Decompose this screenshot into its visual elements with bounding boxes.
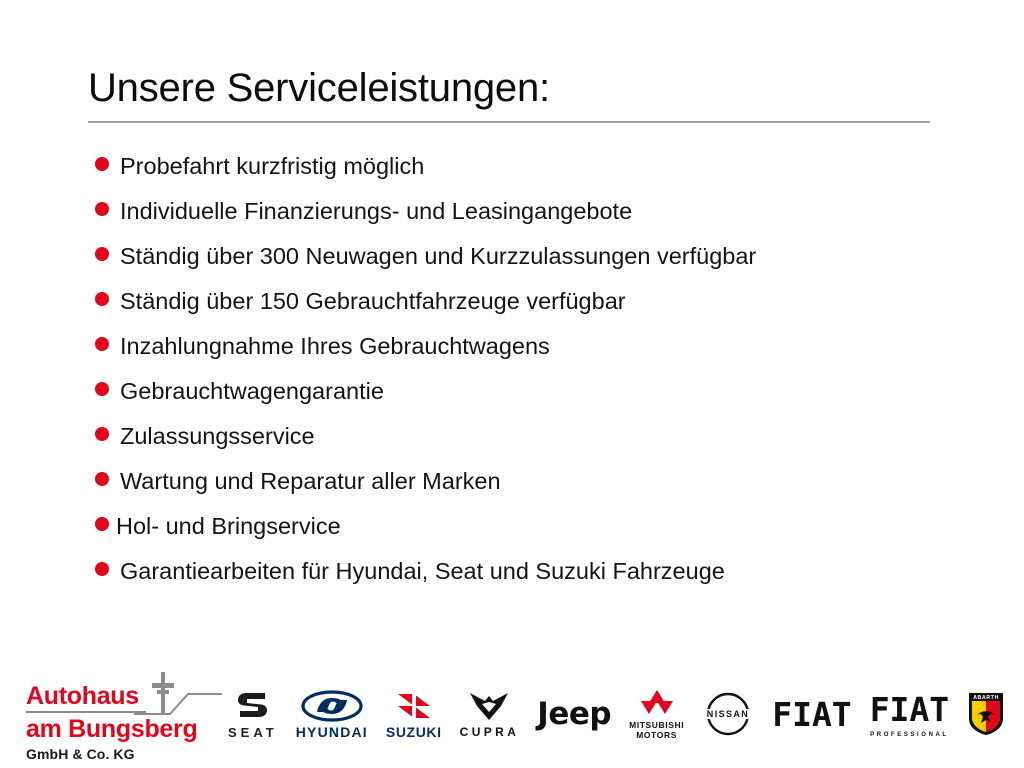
dealer-name-line1: Autohaus [26, 684, 139, 709]
service-label: Ständig über 300 Neuwagen und Kurzzulass… [120, 242, 756, 270]
brand-wordmark: HYUNDAI [296, 725, 368, 739]
bullet-dot-icon [95, 382, 109, 396]
title-block: Unsere Serviceleistungen: [88, 66, 930, 123]
brand-logo-strip: SEAT HYUNDAI SUZUKI [228, 664, 1020, 764]
brand-abarth: ABARTH [967, 684, 1005, 744]
brand-wordmark: SEAT [228, 726, 278, 739]
list-item: Zulassungsservice [95, 422, 975, 467]
brand-wordmark: SUZUKI [386, 725, 442, 739]
bullet-dot-icon [95, 157, 109, 171]
brand-fiat-professional: FIAT PROFESSIONAL [870, 684, 949, 744]
bullet-dot-icon [95, 472, 109, 486]
brand-seat: SEAT [228, 684, 278, 744]
list-item: Probefahrt kurzfristig möglich [95, 152, 975, 197]
service-label: Inzahlungnahme Ihres Gebrauchtwagens [120, 332, 550, 360]
service-label: Probefahrt kurzfristig möglich [120, 152, 424, 180]
suzuki-logo-icon [394, 690, 434, 722]
footer: Autohaus am Bungsberg GmbH & Co. KG SEAT [0, 660, 1024, 768]
list-item: Gebrauchtwagengarantie [95, 377, 975, 422]
brand-cupra: CUPRA [460, 684, 520, 744]
nissan-logo-icon: NISSAN [702, 690, 754, 738]
service-label: Ständig über 150 Gebrauchtfahrzeuge verf… [120, 287, 626, 315]
brand-wordmark: MITSUBISHIMOTORS [629, 721, 684, 741]
slide-canvas: Unsere Serviceleistungen: Probefahrt kur… [0, 0, 1024, 768]
list-item: Hol- und Bringservice [95, 512, 975, 557]
list-item: Inzahlungnahme Ihres Gebrauchtwagens [95, 332, 975, 377]
svg-text:NISSAN: NISSAN [707, 709, 749, 719]
page-title: Unsere Serviceleistungen: [88, 66, 930, 110]
seat-logo-icon [234, 690, 272, 722]
brand-hyundai: HYUNDAI [296, 684, 368, 744]
brand-wordmark: FIAT [772, 695, 851, 734]
list-item: Wartung und Reparatur aller Marken [95, 467, 975, 512]
brand-suzuki: SUZUKI [386, 684, 442, 744]
service-label: Individuelle Finanzierungs- und Leasinga… [120, 197, 632, 225]
list-item: Ständig über 150 Gebrauchtfahrzeuge verf… [95, 287, 975, 332]
brand-jeep: Jeep [537, 684, 611, 744]
service-label: Hol- und Bringservice [116, 512, 341, 540]
cupra-logo-icon [468, 690, 510, 722]
bullet-dot-icon [95, 517, 109, 531]
dealer-legal-form: GmbH & Co. KG [26, 746, 135, 762]
brand-fiat: FIAT [772, 684, 851, 744]
dealer-name-line2: am Bungsberg [26, 717, 197, 742]
title-divider [88, 121, 930, 123]
dealer-logo: Autohaus am Bungsberg GmbH & Co. KG [14, 670, 224, 762]
svg-text:ABARTH: ABARTH [973, 695, 999, 701]
bullet-dot-icon [95, 292, 109, 306]
brand-wordmark: FIAT [870, 690, 949, 729]
list-item: Ständig über 300 Neuwagen und Kurzzulass… [95, 242, 975, 287]
brand-mitsubishi: MITSUBISHIMOTORS [629, 684, 684, 744]
dealer-logo-underline [26, 711, 146, 713]
brand-wordmark: CUPRA [460, 726, 520, 738]
service-label: Gebrauchtwagengarantie [120, 377, 384, 405]
abarth-logo-icon: ABARTH [967, 691, 1005, 737]
service-label: Wartung und Reparatur aller Marken [120, 467, 501, 495]
hyundai-logo-icon [301, 690, 363, 722]
brand-sub-wordmark: PROFESSIONAL [870, 732, 949, 738]
service-label: Garantiearbeiten für Hyundai, Seat und S… [120, 557, 725, 585]
bullet-dot-icon [95, 562, 109, 576]
bullet-dot-icon [95, 247, 109, 261]
brand-wordmark: Jeep [537, 696, 611, 732]
bullet-dot-icon [95, 337, 109, 351]
bullet-dot-icon [95, 202, 109, 216]
mitsubishi-logo-icon [637, 688, 677, 718]
list-item: Garantiearbeiten für Hyundai, Seat und S… [95, 557, 975, 602]
list-item: Individuelle Finanzierungs- und Leasinga… [95, 197, 975, 242]
services-list: Probefahrt kurzfristig möglich Individue… [95, 152, 975, 602]
service-label: Zulassungsservice [120, 422, 315, 450]
brand-nissan: NISSAN [702, 684, 754, 744]
bullet-dot-icon [95, 427, 109, 441]
